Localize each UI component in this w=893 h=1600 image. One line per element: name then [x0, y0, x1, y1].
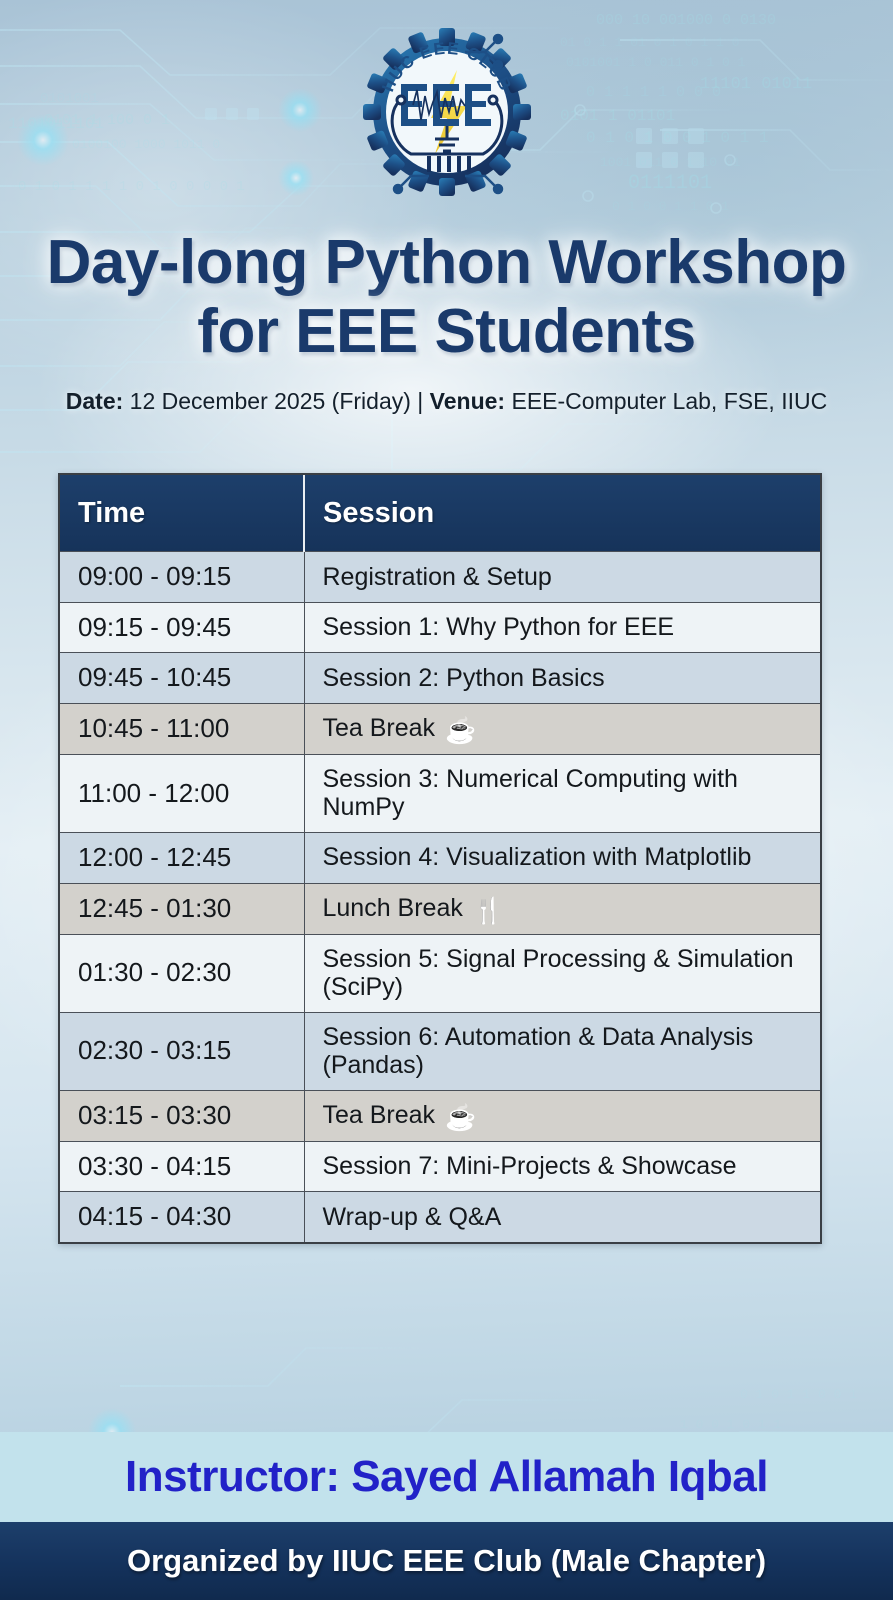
table-row: 09:00 - 09:15Registration & Setup	[60, 552, 820, 603]
session-label: Session 2: Python Basics	[323, 664, 605, 692]
instructor-name: Instructor: Sayed Allamah Iqbal	[125, 1452, 768, 1502]
cell-session: Session 4: Visualization with Matplotlib	[304, 832, 820, 883]
organizer-footer: Organized by IIUC EEE Club (Male Chapter…	[0, 1522, 893, 1600]
cell-session: Wrap-up & Q&A	[304, 1192, 820, 1242]
table-row: 03:15 - 03:30Tea Break☕	[60, 1090, 820, 1141]
session-label: Session 7: Mini-Projects & Showcase	[323, 1152, 737, 1180]
cell-session: Registration & Setup	[304, 552, 820, 603]
cell-time: 12:45 - 01:30	[60, 883, 304, 934]
svg-text:01 0 1 1 01 0 1 0 1 1 0: 01 0 1 1 01 0 1 0 1 1 0	[560, 35, 739, 50]
session-label: Session 3: Numerical Computing with NumP…	[323, 765, 738, 822]
date-value: 12 December 2025 (Friday)	[130, 388, 411, 414]
table-row: 09:15 - 09:45Session 1: Why Python for E…	[60, 602, 820, 653]
event-poster: 000 10 001000 0 0130 01 0 1 1 01 0 1 0 1…	[0, 0, 893, 1600]
cell-session: Session 2: Python Basics	[304, 653, 820, 704]
logo-eee-letters	[401, 84, 491, 126]
svg-text:1 0 0 1 0 1 1: 1 0 0 1 0 1 1	[680, 1417, 782, 1432]
cell-time: 04:15 - 04:30	[60, 1192, 304, 1242]
coffee-cup-icon: ☕	[445, 1106, 476, 1131]
venue-label: Venue:	[430, 388, 505, 414]
logo-icon: IIUC EEE CLUB	[361, 26, 533, 198]
cell-time: 09:15 - 09:45	[60, 602, 304, 653]
table-row: 12:45 - 01:30Lunch Break🍴	[60, 883, 820, 934]
svg-text:0 1 0 0 1 1 0 1: 0 1 0 0 1 1 0 1	[612, 199, 729, 214]
session-label: Tea Break	[323, 714, 436, 742]
svg-text:0101 1 100 0 1: 0101 1 100 0 1	[44, 112, 170, 129]
coffee-cup-icon: ☕	[445, 719, 476, 744]
svg-text:11101 01011: 11101 01011	[700, 75, 812, 94]
cell-time: 12:00 - 12:45	[60, 832, 304, 883]
cell-session: Tea Break☕	[304, 1090, 820, 1141]
cell-time: 03:15 - 03:30	[60, 1090, 304, 1141]
detail-separator: |	[417, 388, 423, 414]
cell-time: 01:30 - 02:30	[60, 934, 304, 1012]
svg-text:0101001: 0101001	[40, 91, 99, 107]
svg-text:0101001 1 0 011 0 1 0 1: 0101001 1 0 011 0 1 0 1	[566, 55, 746, 70]
svg-text:0 1 0 1 0 0 1 0 1 1: 0 1 0 1 0 0 1 0 1 1	[586, 129, 768, 147]
table-row: 12:00 - 12:45Session 4: Visualization wi…	[60, 832, 820, 883]
cell-session: Session 5: Signal Processing & Simulatio…	[304, 934, 820, 1012]
cell-time: 09:00 - 09:15	[60, 552, 304, 603]
table-row: 03:30 - 04:15Session 7: Mini-Projects & …	[60, 1141, 820, 1192]
session-label: Session 6: Automation & Data Analysis (P…	[323, 1023, 754, 1080]
session-label: Session 1: Why Python for EEE	[323, 613, 675, 641]
iiuc-eee-club-logo: IIUC EEE CLUB	[361, 26, 533, 198]
fork-spoon-icon: 🍴	[473, 899, 504, 924]
cell-time: 10:45 - 11:00	[60, 703, 304, 754]
cell-session: Session 3: Numerical Computing with NumP…	[304, 754, 820, 832]
svg-text:1001 011 0 1 10 01: 1001 011 0 1 10 01	[600, 155, 741, 170]
table-row: 02:30 - 03:15Session 6: Automation & Dat…	[60, 1012, 820, 1090]
title-line-1: Day-long Python Workshop	[47, 228, 847, 297]
table-row: 11:00 - 12:00Session 3: Numerical Comput…	[60, 754, 820, 832]
table-row: 04:15 - 04:30Wrap-up & Q&A	[60, 1192, 820, 1242]
session-label: Session 5: Signal Processing & Simulatio…	[323, 945, 794, 1002]
cell-session: Lunch Break🍴	[304, 883, 820, 934]
organizer-text: Organized by IIUC EEE Club (Male Chapter…	[127, 1543, 766, 1579]
column-header-time: Time	[60, 475, 304, 552]
poster-title: Day-long Python Workshop for EEE Student…	[0, 228, 893, 367]
cell-session: Tea Break☕	[304, 703, 820, 754]
cell-session: Session 1: Why Python for EEE	[304, 602, 820, 653]
svg-text:000 10 001000 0 0130: 000 10 001000 0 0130	[596, 12, 776, 29]
table-row: 10:45 - 11:00Tea Break☕	[60, 703, 820, 754]
date-venue-line: Date: 12 December 2025 (Friday) | Venue:…	[0, 388, 893, 415]
session-label: Wrap-up & Q&A	[323, 1203, 502, 1231]
session-label: Lunch Break	[323, 894, 463, 922]
svg-text:0101 1 01101: 0101 1 01101	[560, 107, 675, 125]
svg-text:0 1 0 1 1 0 0 1: 0 1 0 1 1 0 0 1	[740, 1387, 857, 1402]
cell-time: 03:30 - 04:15	[60, 1141, 304, 1192]
svg-text:0 1 0 1 1 1 1 0 1 0 0 0 0 1: 0 1 0 1 1 1 1 0 1 0 0 0 0 1	[18, 179, 245, 195]
table-row: 09:45 - 10:45Session 2: Python Basics	[60, 653, 820, 704]
table-header-row: Time Session	[60, 475, 820, 552]
cell-session: Session 7: Mini-Projects & Showcase	[304, 1141, 820, 1192]
cell-time: 02:30 - 03:15	[60, 1012, 304, 1090]
session-label: Session 4: Visualization with Matplotlib	[323, 843, 752, 871]
cell-time: 09:45 - 10:45	[60, 653, 304, 704]
cell-time: 11:00 - 12:00	[60, 754, 304, 832]
svg-text:0100100 1000 1011 0: 0100100 1000 1011 0	[72, 137, 220, 152]
svg-text:0111101: 0111101	[628, 172, 712, 195]
svg-text:0 1 1 1 1 0 0 0: 0 1 1 1 1 0 0 0	[586, 84, 721, 101]
title-line-2: for EEE Students	[24, 297, 869, 366]
schedule-table: Time Session 09:00 - 09:15Registration &…	[58, 473, 822, 1244]
svg-text:1101011101: 1101011101	[8, 115, 104, 133]
table-row: 01:30 - 02:30Session 5: Signal Processin…	[60, 934, 820, 1012]
session-label: Tea Break	[323, 1101, 436, 1129]
instructor-band: Instructor: Sayed Allamah Iqbal	[0, 1432, 893, 1522]
cell-session: Session 6: Automation & Data Analysis (P…	[304, 1012, 820, 1090]
column-header-session: Session	[304, 475, 820, 552]
date-label: Date:	[66, 388, 124, 414]
venue-value: EEE-Computer Lab, FSE, IIUC	[511, 388, 827, 414]
session-label: Registration & Setup	[323, 563, 552, 591]
schedule-body: 09:00 - 09:15Registration & Setup09:15 -…	[60, 552, 820, 1242]
